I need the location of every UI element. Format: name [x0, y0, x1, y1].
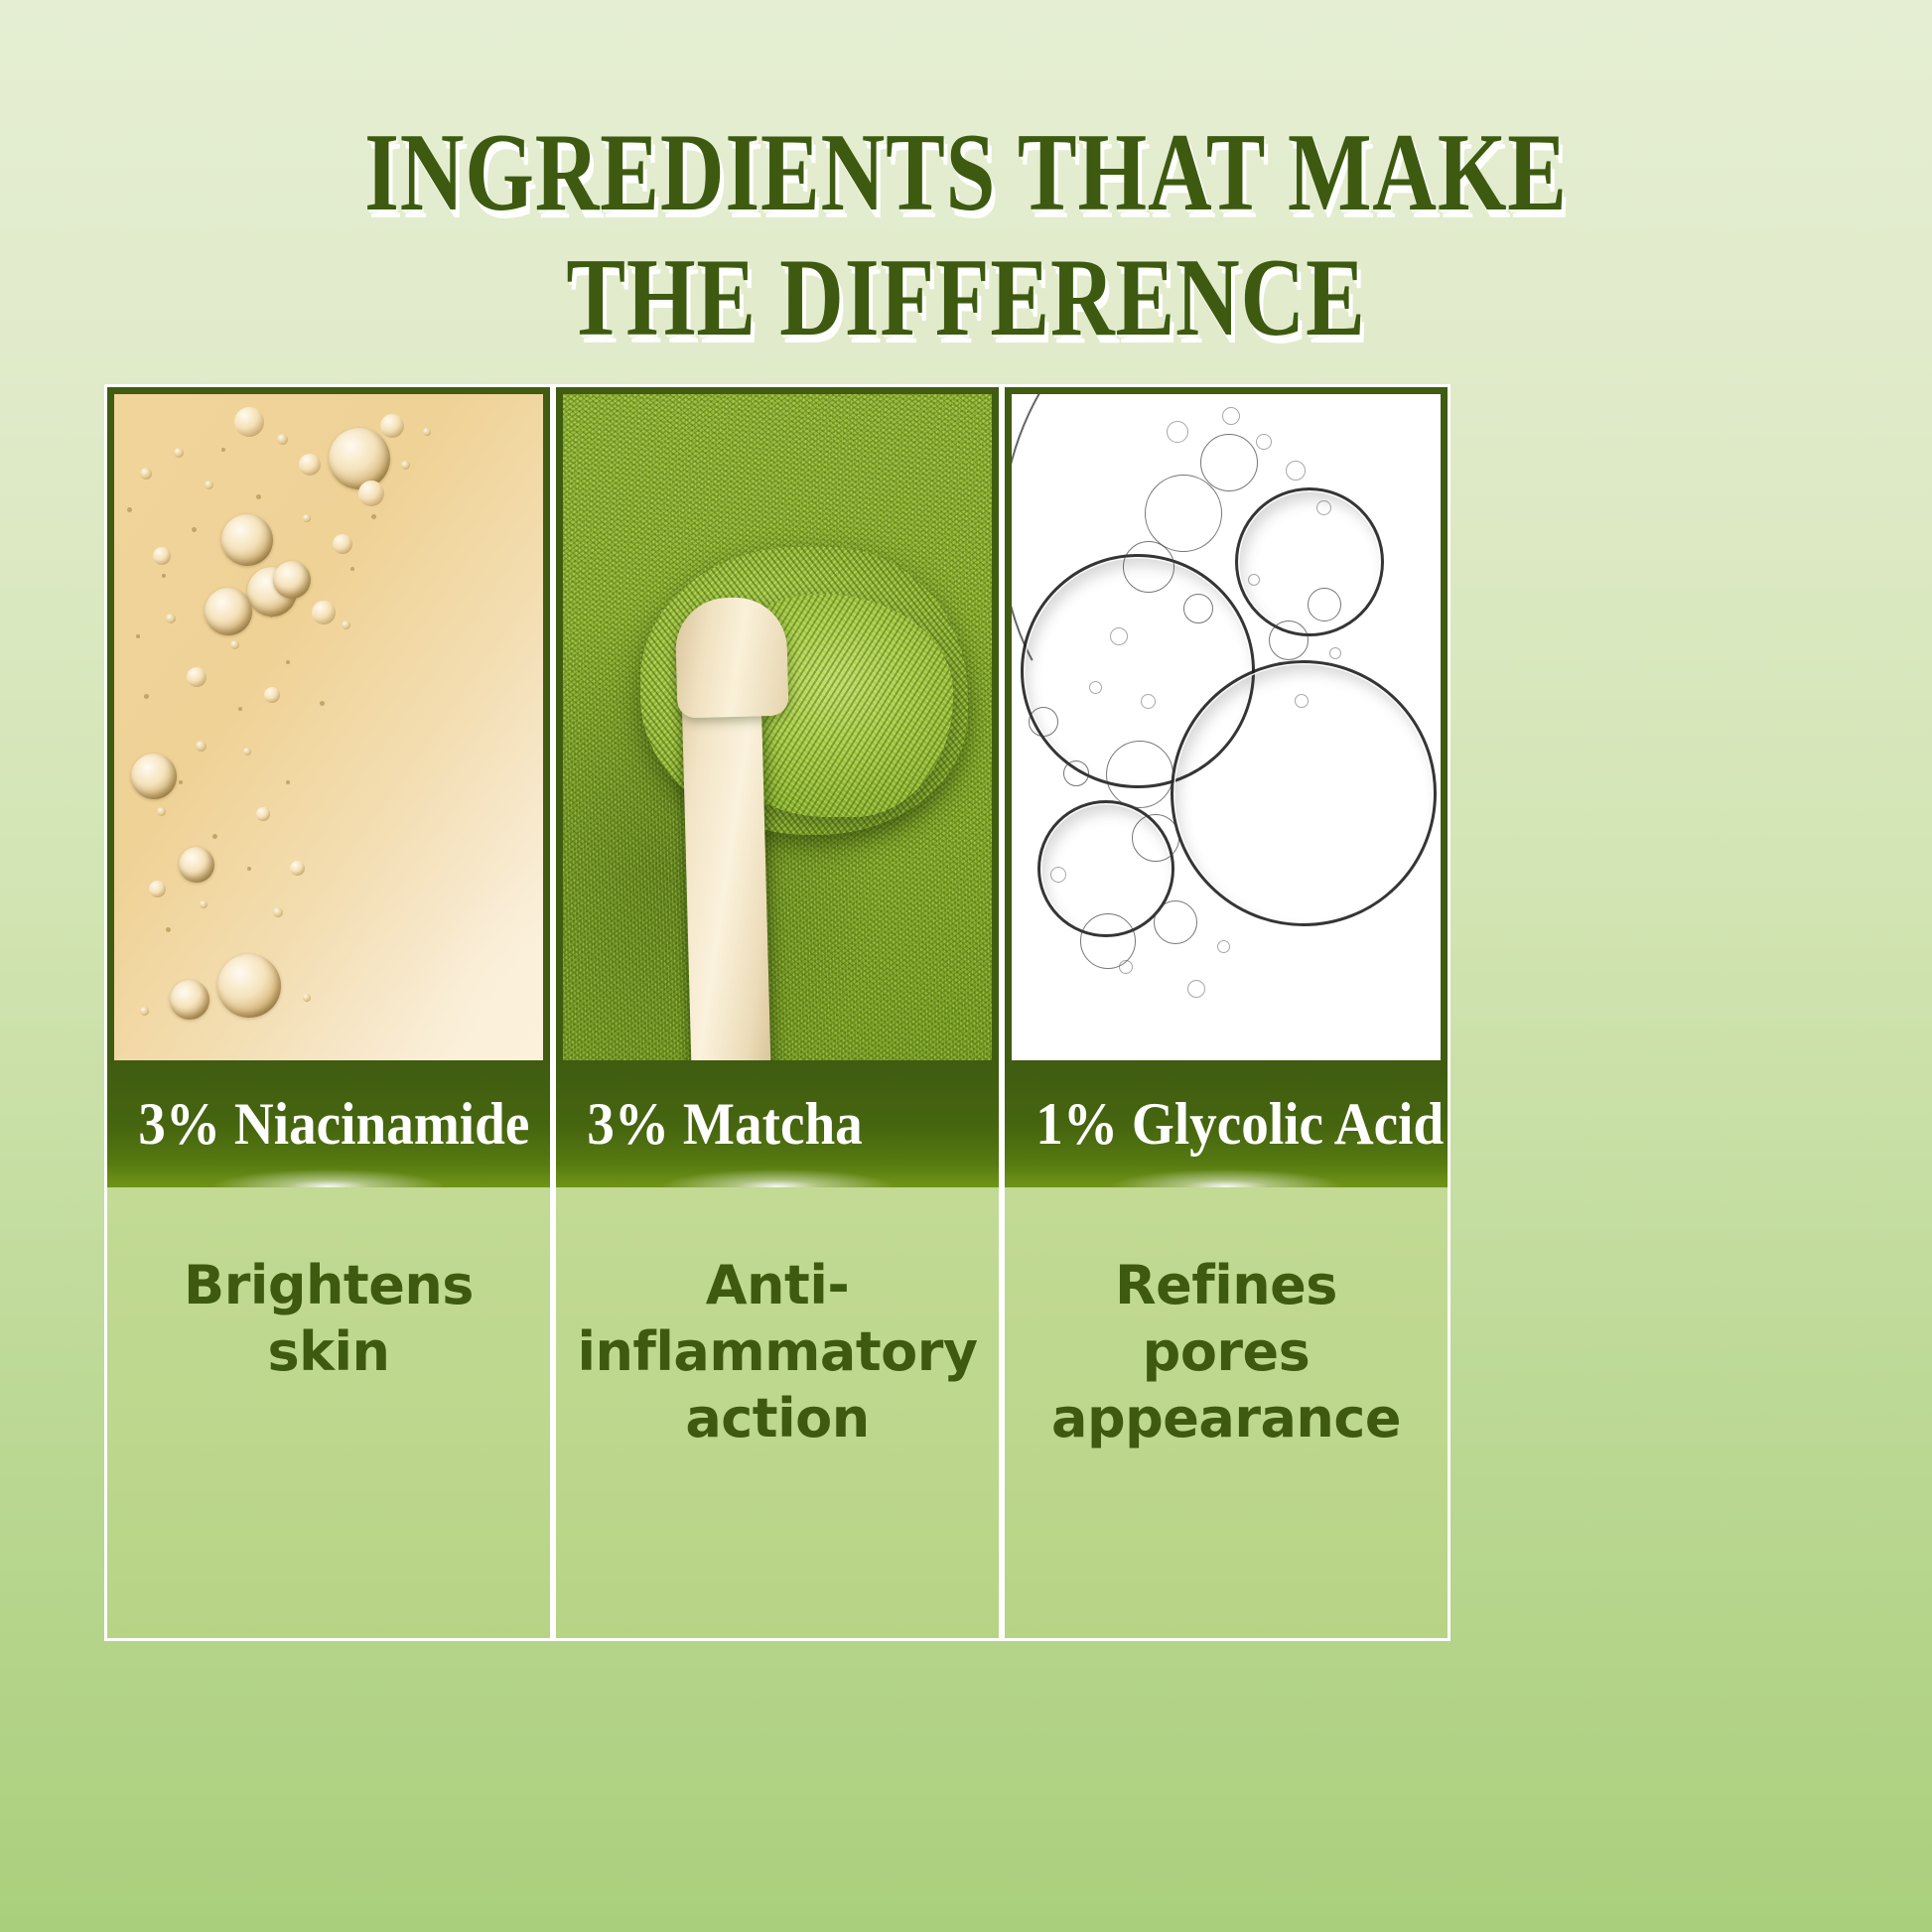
ingredient-description-panel-glycolic-acid: Refines pores appearance	[1005, 1187, 1448, 1638]
ingredient-card-matcha: 3% Matcha Anti-inflammatory action	[556, 387, 999, 1638]
ingredient-label-matcha: 3% Matcha	[556, 1094, 863, 1154]
ingredient-image-glycolic-acid	[1005, 387, 1448, 1060]
ingredient-image-matcha	[556, 387, 999, 1060]
ingredient-label-bar-niacinamide: 3% Niacinamide	[107, 1060, 550, 1187]
ingredient-card-glycolic-acid: 1% Glycolic Acid Refines pores appearanc…	[1005, 387, 1448, 1638]
ingredient-description-panel-niacinamide: Brightens skin	[107, 1187, 550, 1638]
matcha-powder-texture	[563, 394, 992, 1060]
serum-bubbles-texture	[114, 394, 543, 1060]
page-title-line-1: INGREDIENTS THAT MAKE	[194, 117, 1739, 228]
page-title: INGREDIENTS THAT MAKE THE DIFFERENCE	[0, 117, 1932, 353]
ingredient-image-niacinamide	[107, 387, 550, 1060]
ingredient-card-grid: 3% Niacinamide Brightens skin 3% Matcha …	[107, 387, 1448, 1638]
ingredient-label-bar-glycolic-acid: 1% Glycolic Acid	[1005, 1060, 1448, 1187]
page-title-line-2: THE DIFFERENCE	[194, 242, 1739, 353]
ingredient-description-panel-matcha: Anti-inflammatory action	[556, 1187, 999, 1638]
ingredient-label-niacinamide: 3% Niacinamide	[107, 1094, 529, 1154]
ingredient-description-matcha: Anti-inflammatory action	[577, 1253, 977, 1452]
ingredient-card-niacinamide: 3% Niacinamide Brightens skin	[107, 387, 550, 1638]
ingredient-description-niacinamide: Brightens skin	[133, 1253, 524, 1386]
ingredient-description-glycolic-acid: Refines pores appearance	[1031, 1253, 1422, 1452]
glycolic-acid-bubbles-texture	[1012, 394, 1441, 1060]
ingredient-label-glycolic-acid: 1% Glycolic Acid	[1005, 1094, 1444, 1154]
ingredient-label-bar-matcha: 3% Matcha	[556, 1060, 999, 1187]
wooden-scoop-tip	[675, 596, 789, 718]
